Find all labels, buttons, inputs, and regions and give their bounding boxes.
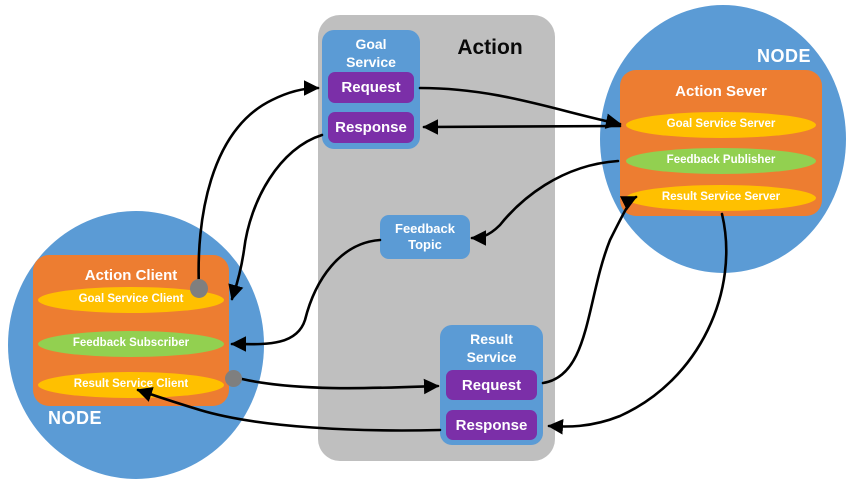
goal-client-connector-dot: [190, 279, 208, 298]
result-service-response[interactable]: Response: [446, 410, 537, 440]
feedback-topic-box[interactable]: FeedbackTopic: [380, 215, 470, 259]
result-service-title: ResultService: [440, 331, 543, 366]
action-server-title: Action Sever: [620, 83, 822, 100]
goal-service-request[interactable]: Request: [328, 72, 414, 103]
action-server-container: Action Sever Goal Service Server Feedbac…: [620, 70, 822, 216]
goal-service-box: GoalService Request Response: [322, 30, 420, 149]
action-client-container: Action Client Goal Service Client Feedba…: [33, 255, 229, 406]
action-panel-label: Action: [430, 36, 550, 60]
result-service-request[interactable]: Request: [446, 370, 537, 400]
result-service-client-pill[interactable]: Result Service Client: [38, 372, 224, 398]
feedback-publisher-pill[interactable]: Feedback Publisher: [626, 148, 816, 174]
client-node-label: NODE: [48, 408, 102, 429]
diagram-canvas: NODE Action Sever Goal Service Server Fe…: [0, 0, 854, 480]
goal-service-response[interactable]: Response: [328, 112, 414, 143]
goal-service-server-pill[interactable]: Goal Service Server: [626, 112, 816, 138]
result-service-server-pill[interactable]: Result Service Server: [626, 185, 816, 211]
result-client-connector-dot: [225, 370, 242, 387]
goal-service-title: GoalService: [322, 36, 420, 71]
result-service-box: ResultService Request Response: [440, 325, 543, 445]
feedback-subscriber-pill[interactable]: Feedback Subscriber: [38, 331, 224, 357]
edge-goal-response-to-goal-client: [232, 135, 322, 299]
server-node-label: NODE: [757, 46, 811, 67]
edge-result-request-to-result-server: [543, 197, 636, 383]
